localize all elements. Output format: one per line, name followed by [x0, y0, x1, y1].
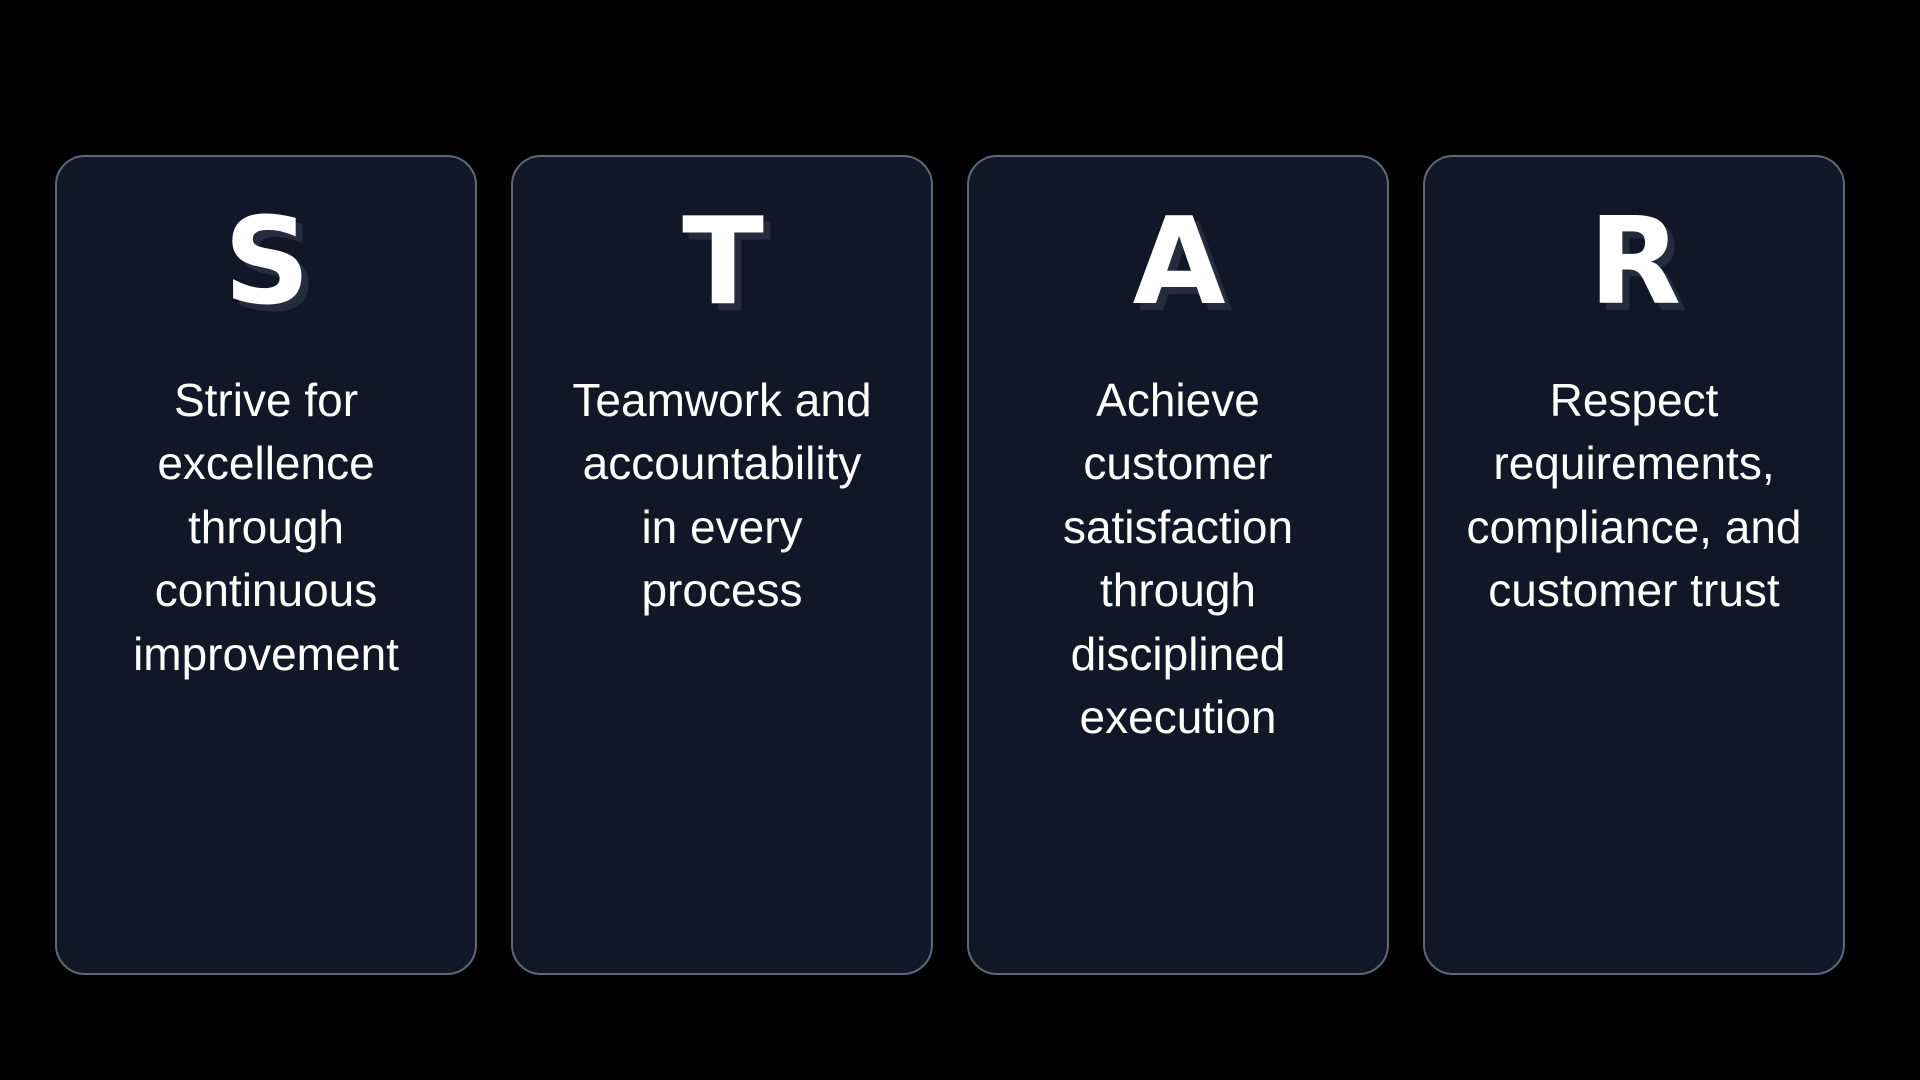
- slide-canvas: S Strive for excellence through continuo…: [0, 0, 1920, 1080]
- value-card-a[interactable]: A Achieve customer satisfaction through …: [967, 155, 1389, 975]
- value-card-a-description: Achieve customer satisfaction through di…: [1019, 369, 1337, 750]
- value-card-t-description: Teamwork and accountability in every pro…: [569, 369, 875, 623]
- letter-s-glyph: S: [224, 203, 308, 323]
- value-card-s-description: Strive for excellence through continuous…: [106, 369, 426, 686]
- star-values-card-row: S Strive for excellence through continuo…: [55, 155, 1845, 975]
- value-card-t[interactable]: T Teamwork and accountability in every p…: [511, 155, 933, 975]
- value-card-r[interactable]: R Respect requirements, compliance, and …: [1423, 155, 1845, 975]
- letter-r-glyph: R: [1589, 203, 1679, 323]
- value-card-r-description: Respect requirements, compliance, and cu…: [1464, 369, 1804, 623]
- value-card-s[interactable]: S Strive for excellence through continuo…: [55, 155, 477, 975]
- letter-a-glyph: A: [1133, 203, 1224, 323]
- letter-t-glyph: T: [682, 203, 762, 323]
